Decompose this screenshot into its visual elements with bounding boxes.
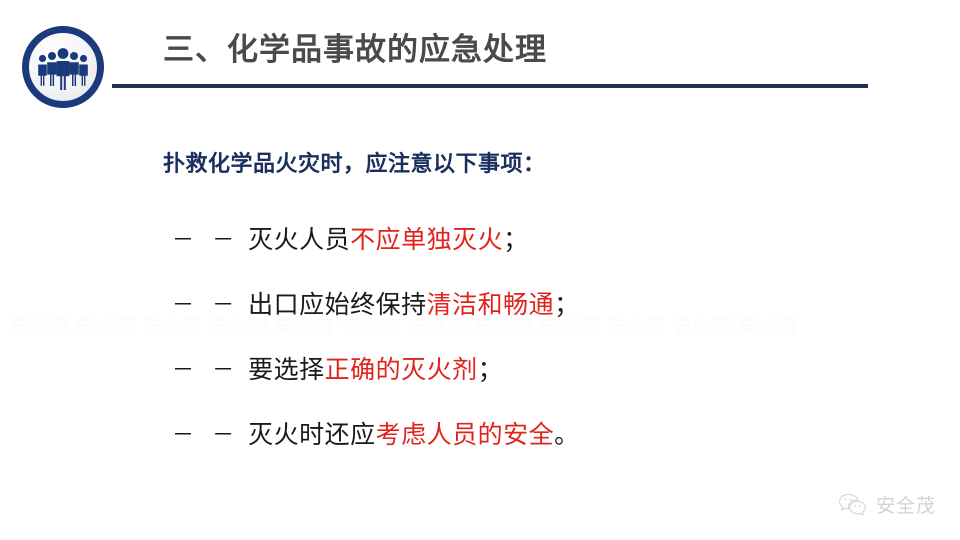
list-item: － － 灭火时还应考虑人员的安全。 <box>172 400 872 465</box>
logo-badge <box>22 26 104 108</box>
bullet-list: － － 灭火人员不应单独灭火； － － 出口应始终保持清洁和畅通； － － 要选… <box>172 205 872 465</box>
bullet-marker: － － <box>172 417 240 449</box>
group-of-people-icon <box>36 46 90 90</box>
bullet-lead-text: 灭火人员 <box>248 226 350 254</box>
corner-watermark: 安全茂 <box>838 491 936 518</box>
slide-canvas: 三、化学品事故的应急处理 安全茂 安全茂 安全茂 安全茂 安全茂 安全茂 安全茂… <box>0 0 960 540</box>
bullet-tail-punctuation: 。 <box>554 421 580 449</box>
bullet-lead-text: 出口应始终保持 <box>248 291 427 319</box>
bullet-lead-text: 灭火时还应 <box>248 421 376 449</box>
bullet-content: 灭火人员不应单独灭火； <box>248 220 529 256</box>
bullet-highlight-text: 不应单独灭火 <box>350 226 503 254</box>
bullet-tail-punctuation: ； <box>503 226 529 254</box>
bullet-content: 出口应始终保持清洁和畅通； <box>248 285 580 321</box>
bullet-tail-punctuation: ； <box>554 291 580 319</box>
bullet-highlight-text: 正确的灭火剂 <box>325 356 478 384</box>
title-underline-rule <box>112 84 868 88</box>
list-item: － － 出口应始终保持清洁和畅通； <box>172 270 872 335</box>
bullet-highlight-text: 清洁和畅通 <box>427 291 555 319</box>
list-item: － － 要选择正确的灭火剂； <box>172 335 872 400</box>
bullet-marker: － － <box>172 287 240 319</box>
page-title: 三、化学品事故的应急处理 <box>163 33 547 67</box>
bullet-marker: － － <box>172 352 240 384</box>
corner-watermark-label: 安全茂 <box>876 491 936 518</box>
bullet-lead-text: 要选择 <box>248 356 325 384</box>
list-item: － － 灭火人员不应单独灭火； <box>172 205 872 270</box>
section-subtitle: 扑救化学品火灾时，应注意以下事项： <box>163 146 546 178</box>
bullet-marker: － － <box>172 222 240 254</box>
slide-header: 三、化学品事故的应急处理 <box>0 0 960 110</box>
bullet-content: 要选择正确的灭火剂； <box>248 350 503 386</box>
wechat-icon <box>838 492 868 518</box>
bullet-highlight-text: 考虑人员的安全 <box>376 421 555 449</box>
bullet-content: 灭火时还应考虑人员的安全。 <box>248 415 580 451</box>
bullet-tail-punctuation: ； <box>478 356 504 384</box>
